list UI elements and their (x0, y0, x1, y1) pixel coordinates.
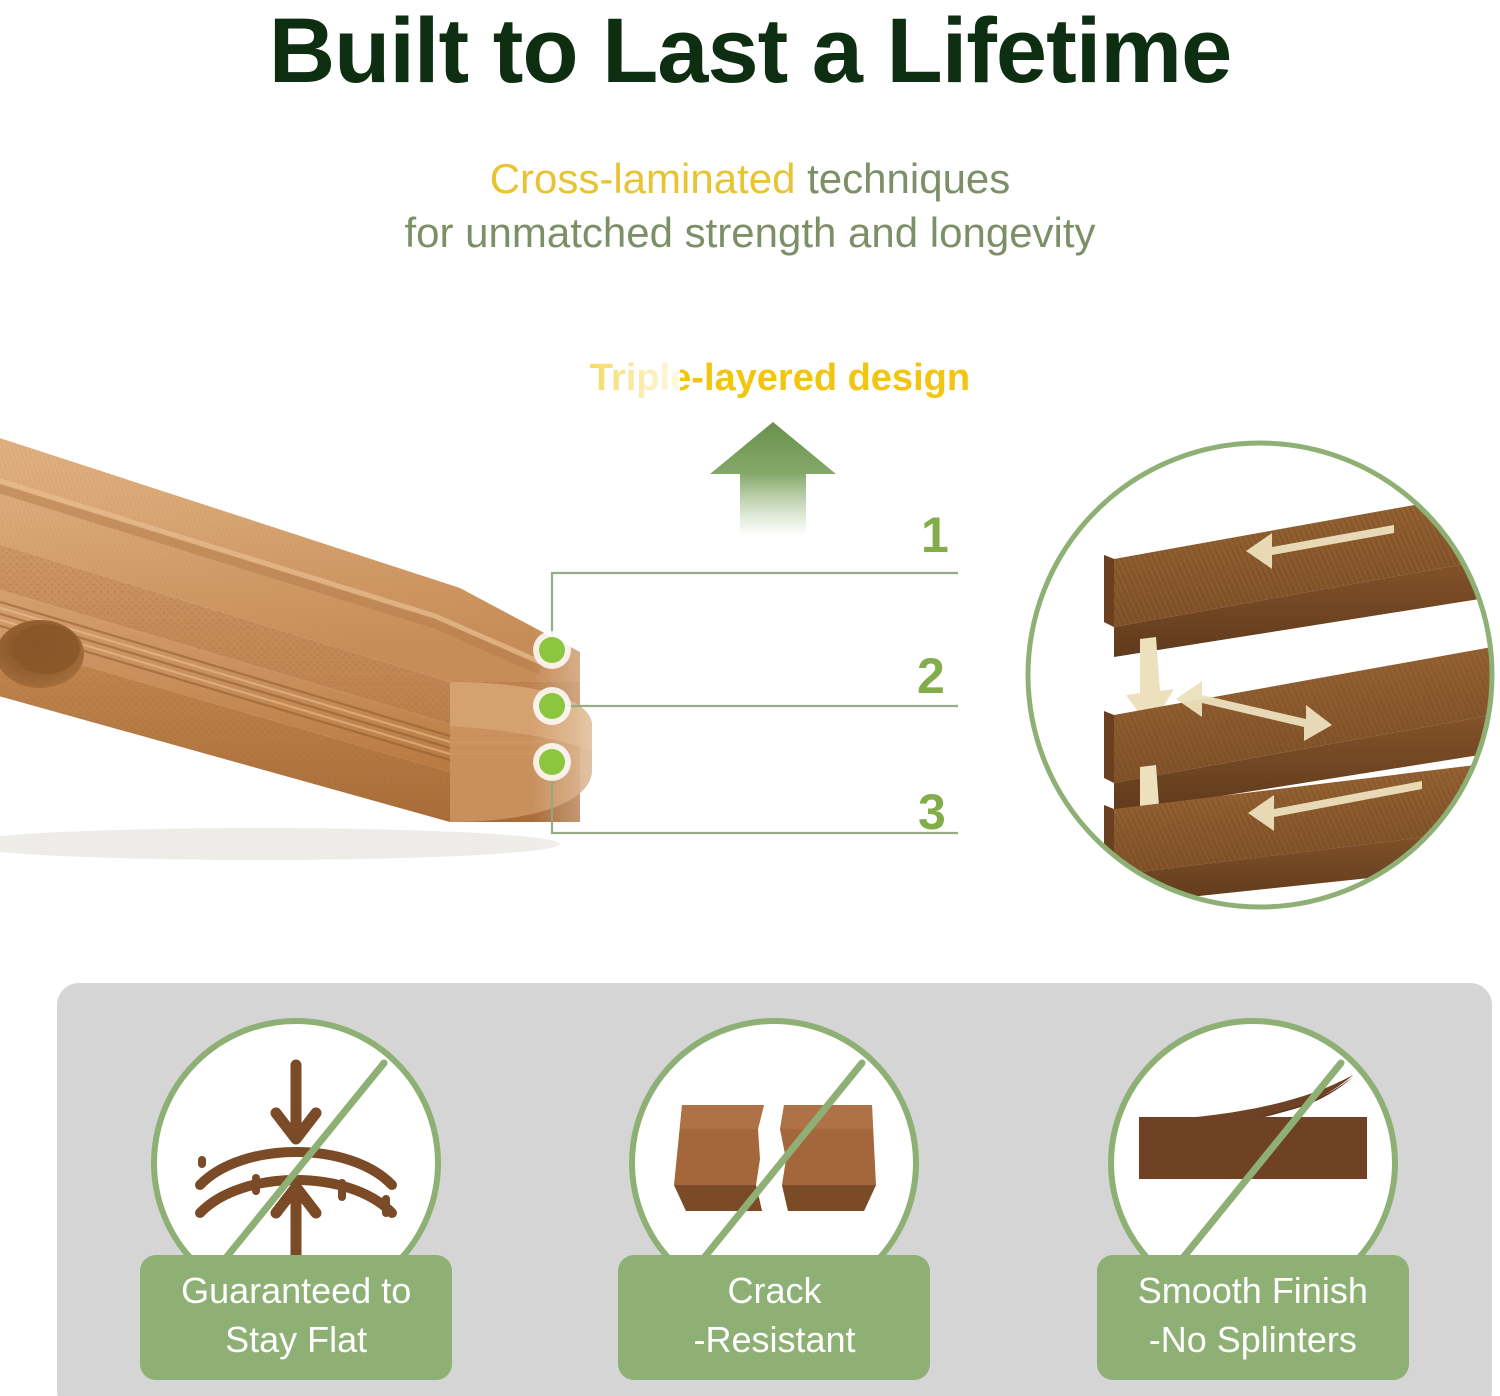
layer-number-3: 3 (918, 787, 946, 837)
subtitle-highlight: Cross-laminated (490, 155, 796, 202)
feature-label-smooth-finish: Smooth Finish -No Splinters (1097, 1255, 1409, 1380)
feature-item-crack-resistant[interactable]: Crack -Resistant (584, 1013, 964, 1383)
feature-label-stay-flat: Guaranteed to Stay Flat (140, 1255, 452, 1380)
bamboo-board-photo (0, 352, 680, 872)
subtitle-rest: techniques (795, 155, 1010, 202)
layer-number-2: 2 (917, 651, 945, 701)
feature-list: Guaranteed to Stay Flat (57, 1013, 1492, 1383)
up-arrow-icon (706, 418, 840, 538)
cross-lamination-inset (1022, 437, 1498, 913)
feature-item-stay-flat[interactable]: Guaranteed to Stay Flat (106, 1013, 486, 1383)
layer-number-1: 1 (921, 510, 949, 560)
subtitle-line-1: Cross-laminated techniques (0, 152, 1500, 206)
feature-label-crack-resistant: Crack -Resistant (618, 1255, 930, 1380)
page-title: Built to Last a Lifetime (0, 2, 1500, 101)
subtitle-line-2: for unmatched strength and longevity (0, 206, 1500, 260)
feature-item-smooth-finish[interactable]: Smooth Finish -No Splinters (1063, 1013, 1443, 1383)
infographic-page: Built to Last a Lifetime Cross-laminated… (0, 0, 1500, 1396)
